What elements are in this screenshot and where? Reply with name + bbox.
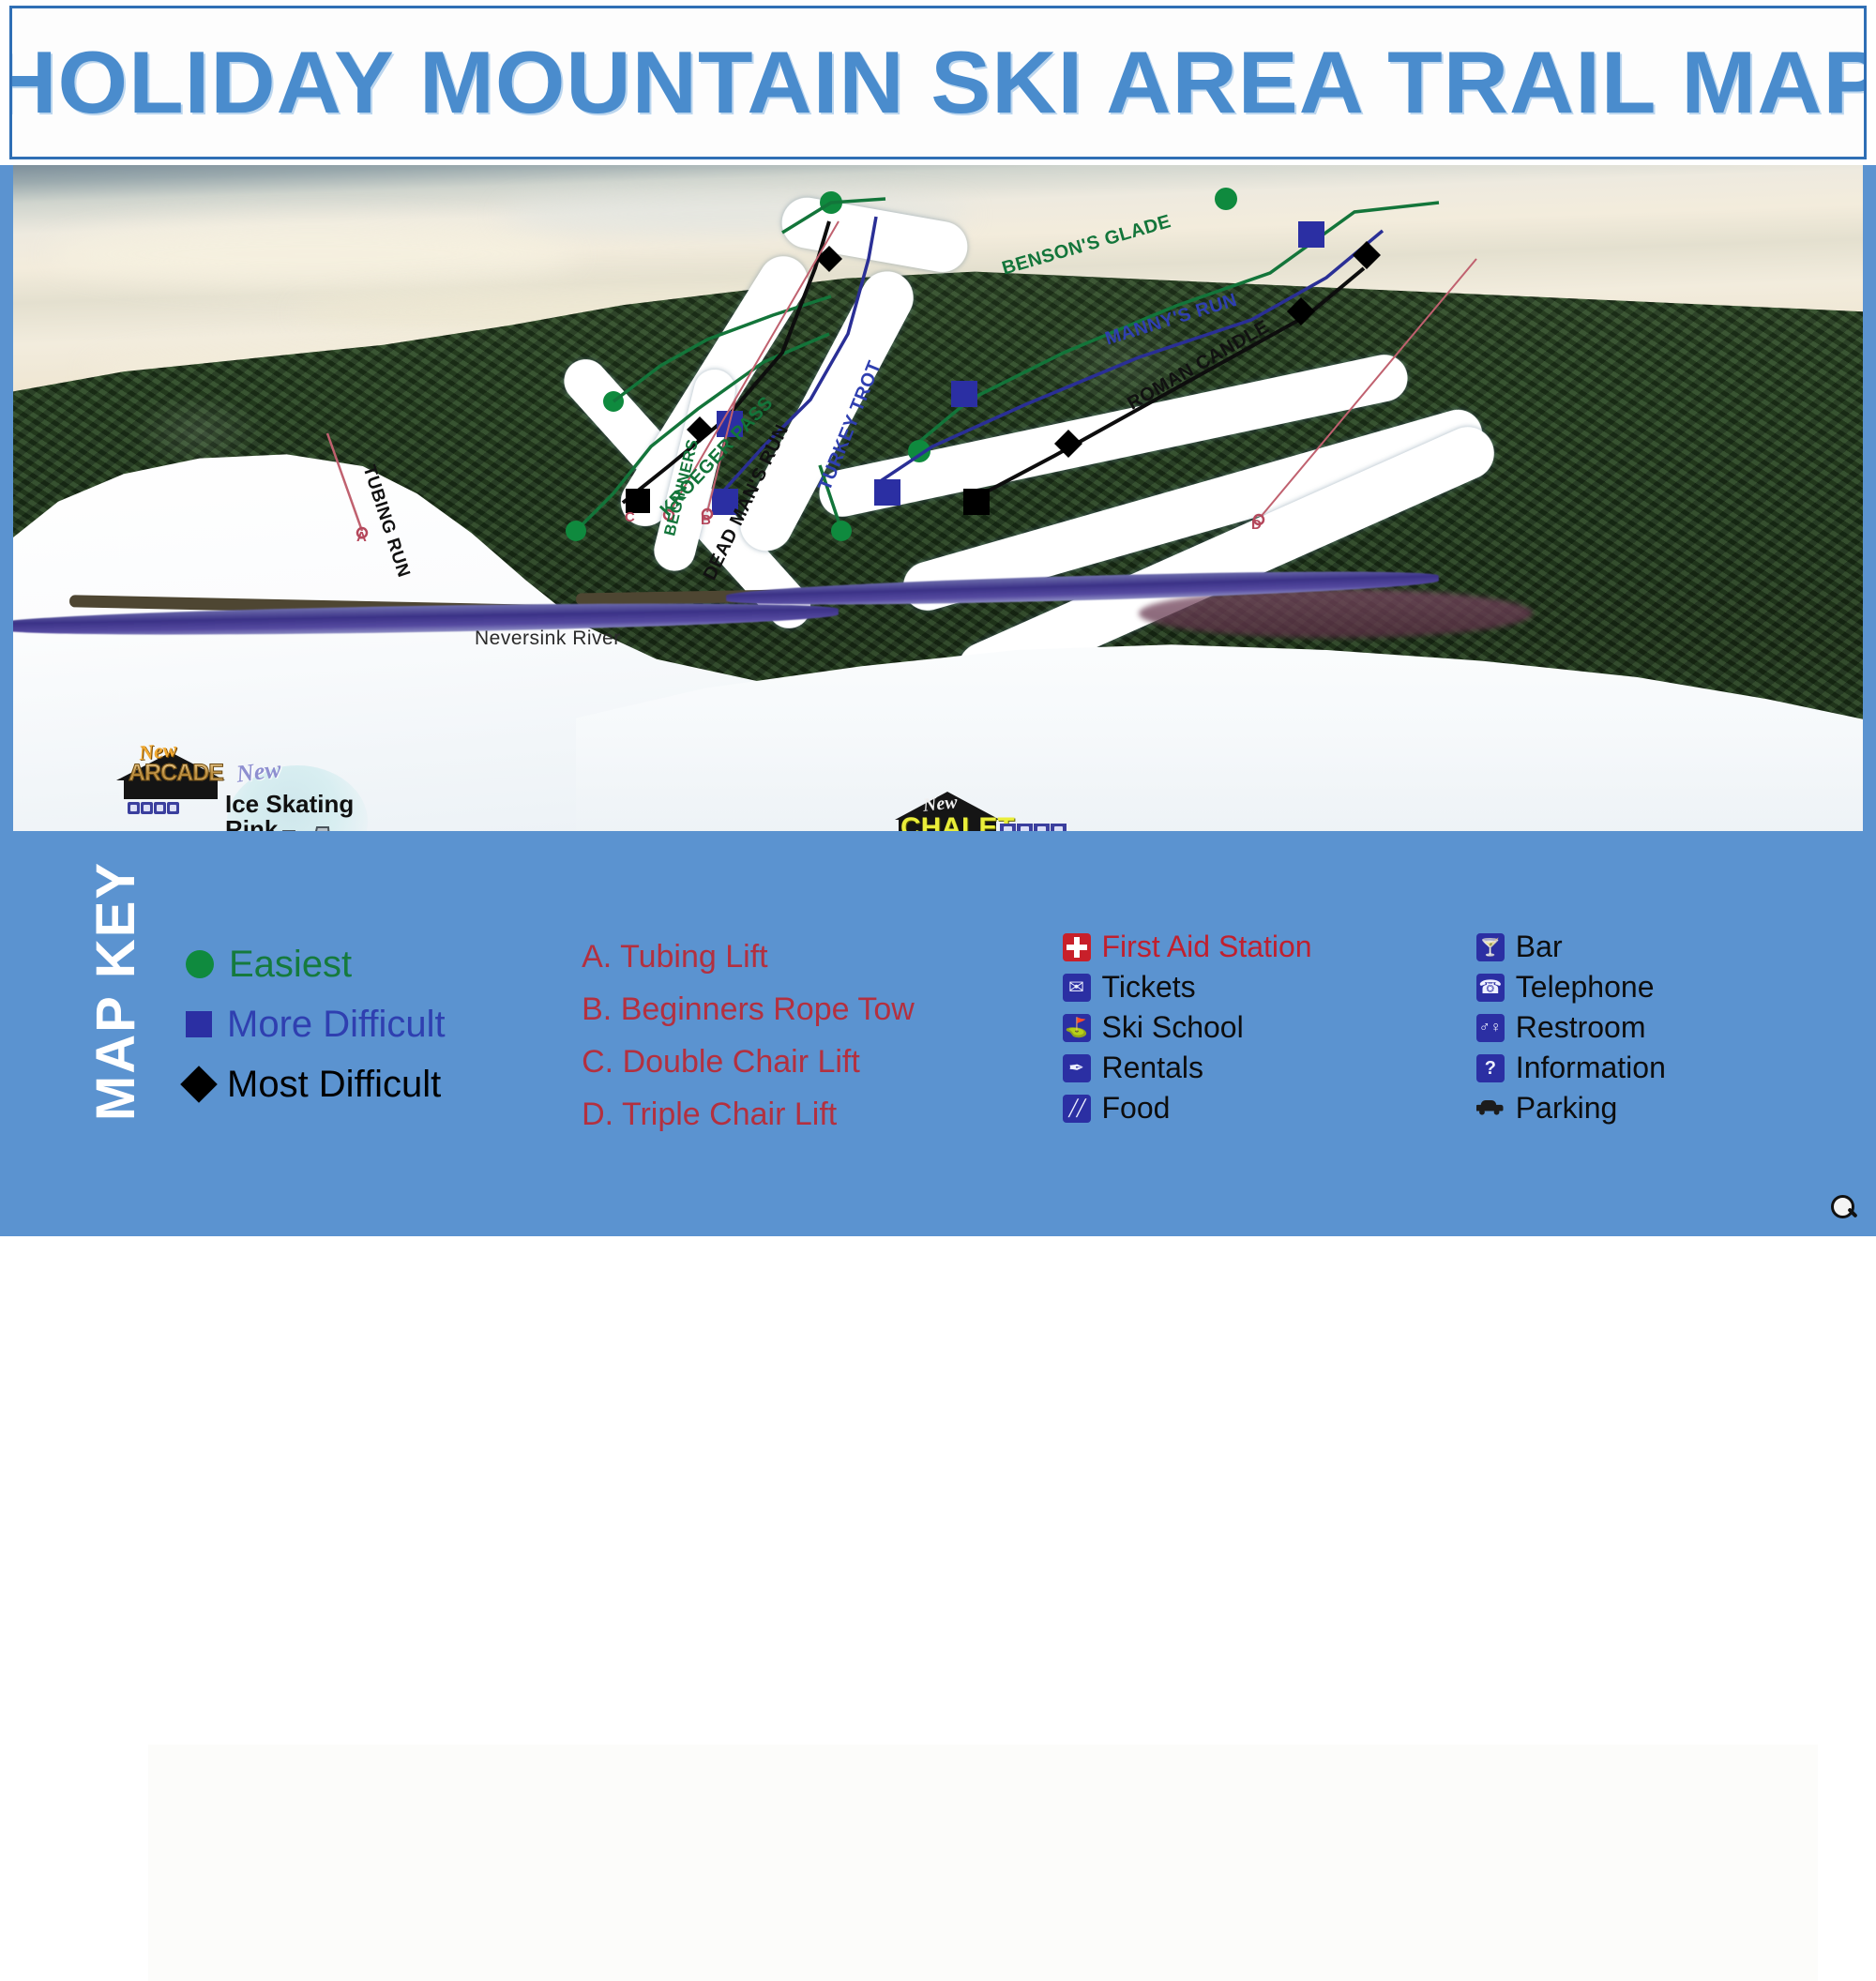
most-difficult-diamond-icon: [180, 1066, 218, 1103]
legend-item-easiest: Easiest: [186, 934, 572, 994]
services-legend-column-right: 🍸 Bar ☎ Telephone ♂♀ Restroom ?: [1467, 914, 1818, 1150]
information-icon: [154, 802, 166, 814]
rentals-icon: [1051, 824, 1067, 831]
more-difficult-square-icon: [186, 1011, 212, 1037]
tickets-icon: ✉: [1063, 974, 1091, 1002]
service-label: Rentals: [1102, 1051, 1204, 1085]
parking-icon: [1476, 1095, 1505, 1123]
service-label: Telephone: [1516, 970, 1655, 1005]
lift-item: D. Triple Chair Lift: [582, 1088, 1049, 1141]
restroom-icon: [1017, 824, 1033, 831]
restroom-icon: [141, 802, 153, 814]
service-label: Bar: [1516, 930, 1563, 964]
arcade-service-icons: [128, 802, 179, 814]
ice-skates-icon: [266, 822, 370, 831]
lift-label: C. Double Chair Lift: [582, 1044, 860, 1081]
lift-label: B. Beginners Rope Tow: [582, 991, 915, 1028]
page-title: HOLIDAY MOUNTAIN SKI AREA TRAIL MAP: [9, 38, 1867, 127]
restroom-icon: ♂♀: [1476, 1014, 1505, 1042]
food-icon: ╱╱: [1063, 1095, 1091, 1123]
difficulty-legend-column: Easiest More Difficult Most Difficult: [148, 914, 572, 1150]
arcade-name-label: ARCADE: [129, 760, 223, 787]
lift-item: C. Double Chair Lift: [582, 1036, 1049, 1088]
food-icon: [167, 802, 179, 814]
service-item-telephone: ☎ Telephone: [1476, 967, 1818, 1007]
service-item-first-aid: First Aid Station: [1063, 927, 1467, 967]
river-label: Neversink River: [475, 628, 621, 650]
service-label: Parking: [1516, 1091, 1618, 1126]
chalet-name-label: CHALET: [900, 812, 1015, 831]
service-item-bar: 🍸 Bar: [1476, 927, 1818, 967]
bar-icon: 🍸: [1476, 933, 1505, 961]
service-label: Ski School: [1102, 1010, 1244, 1045]
legend-item-more-difficult: More Difficult: [186, 994, 572, 1054]
telephone-icon: [1000, 824, 1016, 831]
trail-map-page: HOLIDAY MOUNTAIN SKI AREA TRAIL MAP: [0, 0, 1876, 1236]
service-item-ski-school: ⛳ Ski School: [1063, 1007, 1467, 1048]
service-label: Restroom: [1516, 1010, 1646, 1045]
title-band: HOLIDAY MOUNTAIN SKI AREA TRAIL MAP: [0, 0, 1876, 165]
legend-label: Most Difficult: [227, 1064, 441, 1106]
map-key-columns: Easiest More Difficult Most Difficult A.…: [148, 914, 1818, 1150]
zoom-cursor-icon[interactable]: [1831, 1195, 1859, 1223]
easiest-circle-icon: [186, 950, 214, 978]
title-box: HOLIDAY MOUNTAIN SKI AREA TRAIL MAP: [9, 6, 1867, 159]
rink-new-label: New: [234, 755, 282, 789]
lift-marker-b: B: [701, 512, 711, 528]
service-item-information: ? Information: [1476, 1048, 1818, 1088]
service-item-restroom: ♂♀ Restroom: [1476, 1007, 1818, 1048]
legend-label: More Difficult: [227, 1004, 446, 1046]
tickets-icon: [1034, 824, 1050, 831]
information-icon: ?: [1476, 1054, 1505, 1082]
service-label: Tickets: [1102, 970, 1196, 1005]
telephone-icon: ☎: [1476, 974, 1505, 1002]
first-aid-icon: [1063, 933, 1091, 961]
map-image[interactable]: KROEGER PASS DEAD MAN'S RUN TURKEY TROT …: [13, 165, 1863, 831]
telephone-icon: [128, 802, 140, 814]
map-key-panel: [148, 1745, 1818, 1981]
arcade-poi[interactable]: New ARCADE: [116, 735, 225, 803]
service-item-rentals: ✒ Rentals: [1063, 1048, 1467, 1088]
lift-label: D. Triple Chair Lift: [582, 1096, 837, 1133]
chalet-service-icons: [1000, 824, 1067, 831]
lift-item: B. Beginners Rope Tow: [582, 983, 1049, 1036]
service-item-parking: Parking: [1476, 1088, 1818, 1128]
lift-marker-a: A: [356, 529, 367, 545]
service-label: Food: [1102, 1091, 1171, 1126]
service-label: First Aid Station: [1102, 930, 1312, 964]
service-label: Information: [1516, 1051, 1666, 1085]
lifts-legend-column: A. Tubing Lift B. Beginners Rope Tow C. …: [572, 914, 1049, 1150]
service-item-tickets: ✉ Tickets: [1063, 967, 1467, 1007]
service-item-food: ╱╱ Food: [1063, 1088, 1467, 1128]
chalet-poi[interactable]: New CHALET: [895, 792, 1000, 831]
trail-lines-overlay: [13, 165, 1863, 831]
ski-school-icon: ⛳: [1063, 1014, 1091, 1042]
legend-label: Easiest: [229, 944, 352, 986]
lift-marker-d: D: [1251, 517, 1262, 533]
lift-marker-c: C: [625, 509, 635, 525]
services-legend-column-left: First Aid Station ✉ Tickets ⛳ Ski School…: [1050, 914, 1467, 1150]
legend-item-most-difficult: Most Difficult: [186, 1054, 572, 1114]
lift-item: A. Tubing Lift: [582, 930, 1049, 983]
rentals-icon: ✒: [1063, 1054, 1091, 1082]
lift-label: A. Tubing Lift: [582, 939, 767, 975]
